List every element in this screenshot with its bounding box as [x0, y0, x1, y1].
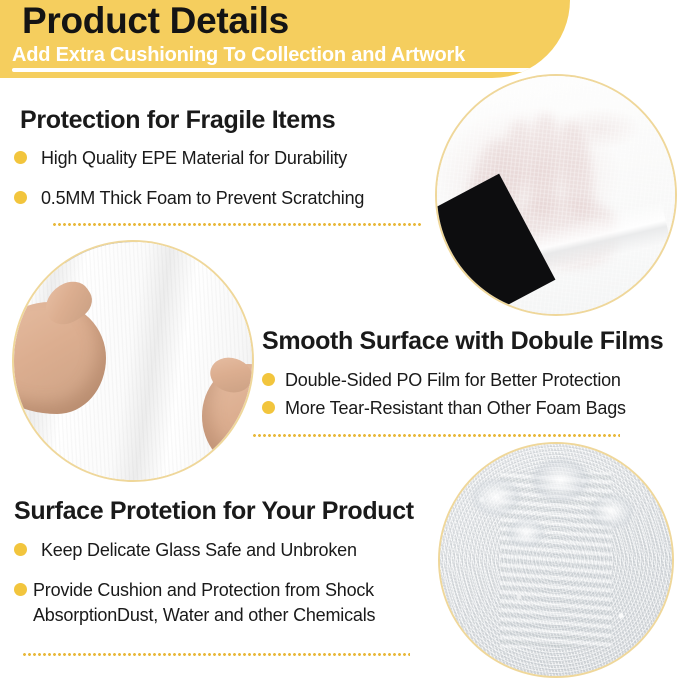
product-details-infographic: Product Details Add Extra Cushioning To … [0, 0, 679, 681]
section-heading-fragile: Protection for Fragile Items [20, 105, 335, 135]
bullet-label: Double-Sided PO Film for Better Protecti… [285, 368, 621, 393]
bullet-item-po-film: Double-Sided PO Film for Better Protecti… [262, 368, 672, 393]
photo-epe-foam-texture-closeup [440, 444, 672, 676]
bullet-label: More Tear-Resistant than Other Foam Bags [285, 396, 626, 421]
bullet-item-cushion-protection: Provide Cushion and Protection from Shoc… [14, 578, 434, 628]
foam-bubble-cluster [449, 449, 662, 570]
photo-hand-behind-translucent-foam-film [437, 76, 675, 314]
bullet-label: Keep Delicate Glass Safe and Unbroken [41, 538, 357, 563]
bullet-item-foam-thickness: 0.5MM Thick Foam to Prevent Scratching [14, 186, 444, 211]
bullet-label: Provide Cushion and Protection from Shoc… [33, 578, 434, 628]
dotted-divider [252, 434, 620, 437]
bullet-item-epe-material: High Quality EPE Material for Durability [14, 146, 434, 171]
bullet-dot-icon [14, 191, 27, 204]
bullet-dot-icon [14, 151, 27, 164]
dotted-divider [22, 653, 410, 656]
bullet-dot-icon [262, 401, 275, 414]
bullet-dot-icon [14, 543, 27, 556]
bullet-label: 0.5MM Thick Foam to Prevent Scratching [41, 186, 364, 211]
header-banner: Product Details Add Extra Cushioning To … [0, 0, 570, 78]
bullet-dot-icon [14, 583, 27, 596]
dotted-divider [52, 223, 422, 226]
section-heading-smooth-surface: Smooth Surface with Dobule Films [262, 326, 663, 356]
bullet-dot-icon [262, 373, 275, 386]
bullet-item-glass-safety: Keep Delicate Glass Safe and Unbroken [14, 538, 434, 563]
page-subtitle: Add Extra Cushioning To Collection and A… [12, 43, 465, 67]
bullet-item-tear-resistant: More Tear-Resistant than Other Foam Bags [262, 396, 674, 421]
subtitle-underline [12, 68, 537, 72]
page-title: Product Details [22, 0, 289, 43]
section-heading-surface-protection: Surface Protetion for Your Product [14, 496, 414, 526]
bullet-label: High Quality EPE Material for Durability [41, 146, 347, 171]
photo-hands-holding-white-foam-sheet [14, 242, 252, 480]
